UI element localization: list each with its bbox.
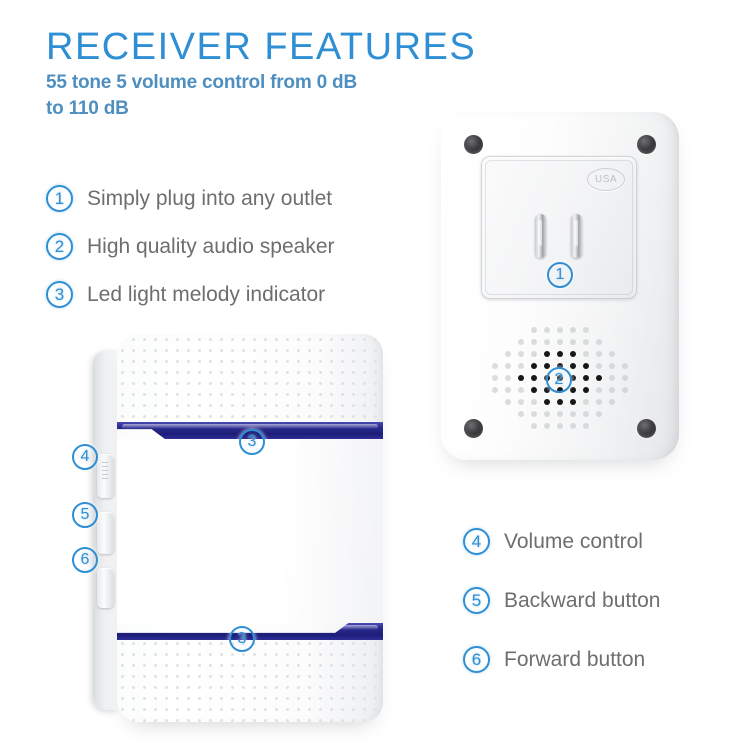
grille-dot (544, 327, 550, 333)
perforation-texture-top (117, 334, 383, 424)
grille-dot (609, 387, 615, 393)
grille-dot (622, 363, 628, 369)
grille-dot (492, 387, 498, 393)
screw-hole-icon (464, 135, 483, 154)
infographic-canvas: RECEIVER FEATURES 55 tone 5 volume contr… (0, 0, 750, 750)
feature-label-3: Led light melody indicator (87, 283, 325, 307)
grille-dot (596, 363, 602, 369)
volume-control-button[interactable] (97, 454, 114, 498)
grille-dot (570, 351, 576, 357)
grille-dot (583, 411, 589, 417)
grille-dot (570, 411, 576, 417)
grille-dot (544, 339, 550, 345)
forward-button[interactable] (97, 568, 114, 608)
grille-dot (570, 423, 576, 429)
perforation-texture-bottom (117, 638, 383, 722)
grille-dot (583, 351, 589, 357)
grille-dot (505, 351, 511, 357)
feature-label-6: Forward button (504, 648, 645, 672)
list-item: 3 Led light melody indicator (46, 281, 335, 308)
grille-dot (570, 399, 576, 405)
number-badge-5: 5 (463, 587, 490, 614)
grille-dot (544, 423, 550, 429)
screw-hole-icon (637, 419, 656, 438)
number-badge-2: 2 (46, 233, 73, 260)
grille-dot (596, 387, 602, 393)
grille-dot (518, 375, 524, 381)
grille-dot (492, 363, 498, 369)
grille-dot (531, 375, 537, 381)
grille-dot (505, 399, 511, 405)
plug-prong-icon (535, 214, 546, 258)
feature-list-left: 1 Simply plug into any outlet 2 High qua… (46, 185, 335, 329)
plug-prong-icon (571, 214, 582, 258)
number-badge-6: 6 (463, 646, 490, 673)
grille-dot (583, 327, 589, 333)
grille-dot (531, 411, 537, 417)
grille-dot (622, 387, 628, 393)
grille-dot (570, 339, 576, 345)
grille-dot (609, 399, 615, 405)
feature-label-1: Simply plug into any outlet (87, 187, 332, 211)
grille-dot (531, 363, 537, 369)
grille-dot (557, 339, 563, 345)
grille-dot (544, 411, 550, 417)
grille-dot (531, 423, 537, 429)
grille-dot (609, 363, 615, 369)
callout-backward: 5 (72, 502, 98, 528)
grille-dot (531, 327, 537, 333)
grille-dot (583, 375, 589, 381)
grille-dot (518, 351, 524, 357)
list-item: 6 Forward button (463, 646, 660, 673)
grille-dot (583, 339, 589, 345)
grille-dot (596, 351, 602, 357)
grille-dot (570, 363, 576, 369)
grille-dot (583, 387, 589, 393)
callout-led-top: 3 (239, 429, 265, 455)
grille-dot (557, 351, 563, 357)
grille-dot (505, 375, 511, 381)
chime-front-face (117, 334, 383, 722)
grille-dot (544, 351, 550, 357)
list-item: 2 High quality audio speaker (46, 233, 335, 260)
grille-dot (609, 375, 615, 381)
grille-dot (596, 411, 602, 417)
grille-dot (518, 387, 524, 393)
list-item: 1 Simply plug into any outlet (46, 185, 335, 212)
grille-dot (557, 423, 563, 429)
grille-dot (505, 363, 511, 369)
callout-volume: 4 (72, 444, 98, 470)
feature-label-5: Backward button (504, 589, 660, 613)
list-item: 4 Volume control (463, 528, 660, 555)
callout-speaker: 2 (546, 367, 572, 393)
grille-dot (557, 327, 563, 333)
number-badge-1: 1 (46, 185, 73, 212)
grille-dot (518, 399, 524, 405)
usa-marking: USA (587, 168, 625, 191)
grille-dot (531, 387, 537, 393)
grille-dot (544, 399, 550, 405)
grille-dot (583, 363, 589, 369)
feature-list-right: 4 Volume control 5 Backward button 6 For… (463, 528, 660, 705)
grille-dot (531, 351, 537, 357)
grille-dot (531, 339, 537, 345)
grille-dot (531, 399, 537, 405)
grille-dot (596, 339, 602, 345)
number-badge-3: 3 (46, 281, 73, 308)
grille-dot (518, 339, 524, 345)
callout-led-bottom: 3 (229, 626, 255, 652)
backward-button[interactable] (97, 512, 114, 554)
grille-dot (609, 351, 615, 357)
grille-dot (622, 375, 628, 381)
grille-dot (570, 327, 576, 333)
grille-dot (518, 363, 524, 369)
chime-side-face (93, 350, 119, 710)
ridge-texture-icon (102, 462, 108, 480)
page-subtitle: 55 tone 5 volume control from 0 dB to 11… (46, 70, 376, 122)
screw-hole-icon (464, 419, 483, 438)
grille-dot (583, 399, 589, 405)
grille-dot (544, 363, 550, 369)
feature-label-2: High quality audio speaker (87, 235, 335, 259)
callout-forward: 6 (72, 547, 98, 573)
grille-dot (570, 387, 576, 393)
screw-hole-icon (637, 135, 656, 154)
grille-dot (557, 399, 563, 405)
grille-dot (505, 387, 511, 393)
grille-dot (596, 399, 602, 405)
number-badge-4: 4 (463, 528, 490, 555)
grille-dot (583, 423, 589, 429)
grille-dot (596, 375, 602, 381)
feature-label-4: Volume control (504, 530, 643, 554)
grille-dot (518, 411, 524, 417)
receiver-product-image: USA 1 2 (441, 112, 679, 460)
callout-plug: 1 (547, 262, 573, 288)
chime-product-image: 3 3 (93, 334, 383, 722)
list-item: 5 Backward button (463, 587, 660, 614)
chime-center-panel (117, 439, 383, 623)
grille-dot (492, 375, 498, 381)
grille-dot (557, 411, 563, 417)
page-title: RECEIVER FEATURES (46, 26, 476, 69)
